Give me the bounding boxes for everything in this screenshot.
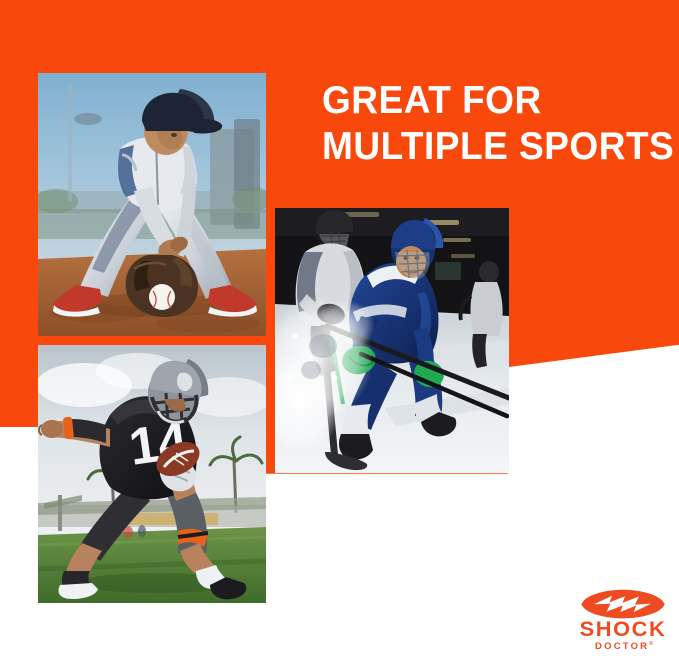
registered-trademark-symbol: ®: [649, 641, 653, 647]
lightning-bolt-diamond-svg: [581, 589, 665, 619]
white-left-panel: [0, 427, 38, 658]
brand-wordmark: SHOCK DOCTOR®: [575, 620, 671, 652]
headline-line-1: GREAT FOR: [322, 78, 636, 124]
brand-name-shock: SHOCK: [573, 620, 673, 639]
photo-baseball: [38, 73, 266, 336]
hockey-scene-illustration: [275, 208, 509, 473]
brand-logo: SHOCK DOCTOR®: [575, 589, 671, 647]
headline-line-2: MULTIPLE SPORTS: [322, 124, 636, 170]
football-scene-illustration: 14: [38, 345, 266, 603]
brand-doctor-text: DOCTOR: [595, 641, 649, 652]
baseball-scene-illustration: [38, 73, 266, 336]
poster-canvas: 14: [0, 0, 679, 658]
lightning-bolt-diamond-icon: [581, 589, 665, 619]
photo-football: 14: [38, 345, 266, 603]
photo-hockey: [275, 208, 509, 473]
headline: GREAT FOR MULTIPLE SPORTS: [322, 78, 652, 170]
